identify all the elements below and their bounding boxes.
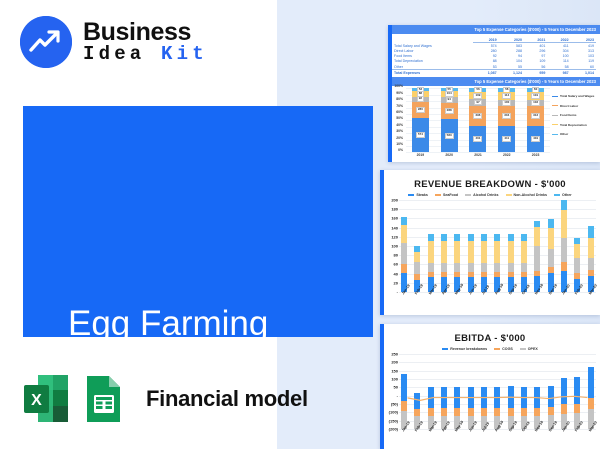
- row-value: 1,014: [571, 70, 596, 76]
- stacked-bar: [521, 200, 527, 292]
- bar-segment: [561, 378, 567, 404]
- bar-segment: [401, 264, 407, 273]
- stacked-bar: 60119103313419: [527, 88, 544, 152]
- legend-item: OPEX: [520, 347, 538, 351]
- stacked-bar: [428, 366, 434, 429]
- legend-label: Direct Labor: [560, 104, 578, 108]
- trending-up-circle-icon: [20, 16, 72, 68]
- y-tick: -: [397, 290, 398, 295]
- legend-label: Steaks: [416, 193, 428, 197]
- y-tick: 200: [391, 198, 398, 203]
- stacked-bar: [494, 366, 500, 429]
- legend-label: Total Salary and Wages: [560, 94, 594, 98]
- y-tick: 80%: [396, 97, 403, 101]
- bar-segment: [508, 263, 514, 273]
- y-tick: (100): [389, 410, 398, 415]
- bar-segment: [468, 263, 474, 273]
- bar-segment: [401, 401, 407, 411]
- svg-text:X: X: [31, 392, 42, 409]
- bar-segment: [401, 374, 407, 401]
- stacked-bar: [441, 366, 447, 429]
- bar-segment: [414, 262, 420, 274]
- revenue-plot: [399, 200, 596, 292]
- stacked-bar: [401, 200, 407, 292]
- bar-segment: [494, 263, 500, 273]
- bar-segment: [468, 387, 474, 408]
- bar-segment: [588, 258, 594, 271]
- y-tick: 20%: [396, 136, 403, 140]
- bar-segment: [494, 408, 500, 416]
- bar-segment: [574, 244, 580, 258]
- stacked-bar: [494, 200, 500, 292]
- bar-segment: [454, 387, 460, 408]
- bar-segment: 583: [441, 119, 458, 152]
- brand-wordmark: Business Idea Kit: [83, 19, 208, 64]
- bar-segment: [521, 408, 527, 416]
- ebitda-chart-body: 25020015010050-(50)(100)(150)(200) Jan-1…: [384, 354, 596, 449]
- bar-segment: [414, 393, 420, 410]
- ebitda-card[interactable]: EBITDA - $'000 Revenue breakdownsCOGSOPE…: [380, 324, 600, 449]
- y-tick: (150): [389, 418, 398, 423]
- file-format-label: Financial model: [146, 386, 308, 412]
- bar-segment: 401: [469, 126, 486, 153]
- bar-segment: [481, 387, 487, 408]
- bar-segment: [548, 249, 554, 267]
- bar-segment: [561, 404, 567, 414]
- bar-segment: [441, 387, 447, 408]
- bar-segment: [521, 234, 527, 241]
- bar-segment: [521, 263, 527, 273]
- stacked-bar: [588, 200, 594, 292]
- page-title: Egg Farming: [68, 306, 268, 341]
- y-tick: 200: [391, 360, 398, 365]
- legend-item: Total Salary and Wages: [552, 94, 598, 98]
- y-tick: 40%: [396, 123, 403, 127]
- y-tick: 20: [394, 280, 398, 285]
- google-sheets-icon: [82, 373, 130, 425]
- expense-chart-banner: Top 5 Expense Categories ($'000) - 5 Yea…: [388, 77, 600, 86]
- bar-segment: [481, 234, 487, 241]
- x-tick: 2022: [498, 153, 515, 157]
- legend-label: Total Depreciation: [560, 123, 587, 127]
- y-tick: 100: [391, 244, 398, 249]
- bar-segment: [574, 377, 580, 403]
- stacked-bar: [561, 362, 567, 429]
- stacked-bar: [441, 200, 447, 292]
- legend-item: Other: [554, 193, 572, 197]
- row-value: 1,087: [473, 70, 498, 76]
- y-tick: -: [397, 393, 398, 398]
- y-tick: 160: [391, 216, 398, 221]
- stacked-bar: [454, 366, 460, 429]
- stacked-bar: [414, 200, 420, 292]
- x-tick: 2023: [527, 153, 544, 157]
- hero-banner: Egg Farming: [23, 106, 373, 337]
- revenue-chart-body: 20018016014012010080604020- Jan-19Feb-19…: [384, 200, 596, 313]
- bar-segment: [534, 246, 540, 270]
- bar-segment: [441, 263, 447, 273]
- bar-segment: [401, 225, 407, 243]
- y-tick: 80: [394, 253, 398, 258]
- bar-segment: [454, 241, 460, 262]
- bar-segment: [548, 407, 554, 416]
- chart1-bars: 5388922805745510494288583561099729640158…: [406, 88, 550, 152]
- bar-segment: [494, 387, 500, 408]
- legend-item: Revenue breakdowns: [442, 347, 487, 351]
- ebitda-bars: [399, 354, 596, 429]
- stacked-bar: 538892280574: [412, 88, 429, 152]
- y-tick: 100%: [394, 84, 403, 88]
- stacked-bar: [548, 200, 554, 292]
- legend-item: Non-Alcohol Drinks: [506, 193, 548, 197]
- y-tick: 70%: [396, 104, 403, 108]
- bar-segment: 288: [441, 103, 458, 119]
- legend-item: Direct Labor: [552, 104, 598, 108]
- x-tick: 2021: [469, 153, 486, 157]
- y-tick: 180: [391, 207, 398, 212]
- bar-segment: 411: [498, 126, 515, 153]
- stacked-bar: [414, 368, 420, 429]
- legend-label: Food Items: [560, 113, 577, 117]
- bar-segment: [454, 234, 460, 241]
- bar-segment: [548, 228, 554, 249]
- stacked-bar: [468, 366, 474, 429]
- stacked-bar: [454, 200, 460, 292]
- bar-segment: [494, 241, 500, 262]
- legend-item: Other: [552, 132, 598, 136]
- y-tick: 30%: [396, 129, 403, 133]
- bar-segment: [508, 241, 514, 262]
- bar-segment: 114: [498, 92, 515, 99]
- stacked-bar: 5610997296401: [469, 88, 486, 152]
- bar-segment: 296: [469, 106, 486, 126]
- bar-segment: [534, 227, 540, 246]
- bar-segment: [574, 404, 580, 414]
- revenue-breakdown-card[interactable]: REVENUE BREAKDOWN - $'000 SteaksSeaFoodA…: [380, 170, 600, 315]
- bar-segment: [588, 238, 594, 257]
- revenue-chart-legend: SteaksSeaFoodAlcohol DrinksNon-Alcohol D…: [380, 193, 600, 197]
- bar-segment: [508, 386, 514, 407]
- bar-segment: 313: [527, 106, 544, 126]
- revenue-x-axis: Jan-19Feb-19Mar-19Apr-19May-19Jun-19Jul-…: [399, 293, 596, 313]
- stacked-bar: [588, 356, 594, 429]
- legend-label: Other: [560, 132, 568, 136]
- row-value: 959: [524, 70, 547, 76]
- stacked-bar: [521, 366, 527, 429]
- bar-segment: [481, 408, 487, 416]
- bar-segment: [428, 408, 434, 416]
- bar-segment: [441, 234, 447, 241]
- file-format-row: X Financial model: [22, 373, 308, 425]
- bar-segment: 574: [412, 118, 429, 152]
- y-tick: 60: [394, 262, 398, 267]
- expense-table: 20192020202120222023Total Salary and Wag…: [388, 34, 600, 77]
- stacked-bar: [508, 200, 514, 292]
- row-value: 1,124: [499, 70, 524, 76]
- stacked-bar: [534, 366, 540, 429]
- bar-segment: 109: [469, 92, 486, 99]
- bar-segment: [521, 241, 527, 262]
- bar-segment: 280: [412, 102, 429, 119]
- revenue-chart-title: REVENUE BREAKDOWN - $'000: [380, 179, 600, 190]
- legend-label: Non-Alcohol Drinks: [514, 193, 548, 197]
- chart1-y-axis: 100%90%80%70%60%50%40%30%20%10%0%: [388, 86, 404, 150]
- bar-segment: [508, 408, 514, 416]
- bar-segment: [561, 238, 567, 262]
- stacked-bar: [574, 200, 580, 292]
- brand-kit-text: Kit: [161, 43, 208, 65]
- stacked-bar: [468, 200, 474, 292]
- stacked-bar: [481, 366, 487, 429]
- expense-table-banner: Top 5 Expense Categories ($'000) - 5 Yea…: [388, 25, 600, 34]
- ebitda-plot: [399, 354, 596, 429]
- bar-segment: [494, 234, 500, 241]
- ebitda-chart-title: EBITDA - $'000: [380, 333, 600, 344]
- chart1-x-axis: 20192020202120222023: [406, 153, 550, 157]
- stacked-bar: [534, 200, 540, 292]
- bar-segment: [588, 367, 594, 398]
- stacked-bar: [428, 200, 434, 292]
- revenue-y-axis: 20018016014012010080604020-: [384, 200, 399, 292]
- bar-segment: 119: [527, 92, 544, 99]
- bar-segment: [414, 252, 420, 262]
- stacked-bar: [481, 200, 487, 292]
- bar-segment: [468, 408, 474, 416]
- bar-segment: [428, 234, 434, 241]
- stacked-bar: [561, 200, 567, 292]
- row-value: 987: [547, 70, 570, 76]
- bar-segment: [561, 200, 567, 210]
- legend-label: COGS: [502, 347, 513, 351]
- brand-line-idea-kit: Idea Kit: [83, 45, 208, 65]
- slide-canvas: Business Idea Kit Egg Farming X: [0, 0, 600, 449]
- ebitda-x-axis: Jan-19Feb-19Mar-19Apr-19May-19Jun-19Jul-…: [399, 430, 596, 449]
- bar-segment: [508, 234, 514, 241]
- y-tick: 10%: [396, 142, 403, 146]
- ebitda-y-axis: 25020015010050-(50)(100)(150)(200): [384, 354, 399, 429]
- y-tick: 250: [391, 352, 398, 357]
- stacked-bar: [548, 365, 554, 429]
- ebitda-chart-legend: Revenue breakdownsCOGSOPEX: [380, 347, 600, 351]
- bar-segment: [534, 387, 540, 408]
- chart1-plot: 5388922805745510494288583561099729640158…: [406, 88, 550, 152]
- legend-item: Alcohol Drinks: [465, 193, 498, 197]
- bar-segment: [588, 398, 594, 409]
- y-tick: 150: [391, 368, 398, 373]
- y-tick: 40: [394, 271, 398, 276]
- bar-segment: [534, 408, 540, 416]
- bar-segment: [521, 387, 527, 408]
- bar-segment: [428, 241, 434, 262]
- bar-segment: [441, 241, 447, 262]
- bar-segment: [481, 263, 487, 273]
- legend-item: Steaks: [408, 193, 428, 197]
- microsoft-excel-icon: X: [22, 373, 70, 425]
- bar-segment: [414, 409, 420, 416]
- bar-segment: [588, 226, 594, 238]
- x-tick: 2020: [441, 153, 458, 157]
- bar-segment: 419: [527, 126, 544, 152]
- bar-segment: [481, 241, 487, 262]
- bar-segment: [574, 258, 580, 273]
- legend-item: SeaFood: [435, 193, 458, 197]
- legend-item: Food Items: [552, 113, 598, 117]
- legend-label: OPEX: [528, 347, 538, 351]
- expense-stacked-chart: 100%90%80%70%60%50%40%30%20%10%0% 538892…: [388, 86, 600, 162]
- row-label: Total Expenses: [392, 70, 473, 76]
- revenue-bars: [399, 200, 596, 292]
- y-tick: 50: [394, 385, 398, 390]
- x-tick: 2019: [412, 153, 429, 157]
- y-tick: (200): [389, 427, 398, 432]
- legend-item: COGS: [494, 347, 513, 351]
- legend-label: Alcohol Drinks: [473, 193, 498, 197]
- bar-segment: [454, 263, 460, 273]
- bar-segment: [401, 217, 407, 225]
- stacked-bar: [574, 362, 580, 429]
- y-tick: 50%: [396, 116, 403, 120]
- bar-segment: [428, 387, 434, 408]
- expense-categories-card[interactable]: Top 5 Expense Categories ($'000) - 5 Yea…: [388, 25, 600, 162]
- stacked-bar: 5510494288583: [441, 88, 458, 152]
- y-tick: 100: [391, 377, 398, 382]
- brand-logo: Business Idea Kit: [20, 16, 208, 68]
- bar-segment: [454, 408, 460, 416]
- bar-segment: [401, 243, 407, 263]
- y-tick: 60%: [396, 110, 403, 114]
- stacked-bar: [401, 359, 407, 429]
- bar-segment: [548, 386, 554, 407]
- bar-segment: [468, 234, 474, 241]
- bar-segment: [441, 408, 447, 416]
- legend-label: SeaFood: [443, 193, 458, 197]
- bar-segment: [548, 219, 554, 228]
- legend-label: Revenue breakdowns: [450, 347, 487, 351]
- y-tick: 120: [391, 234, 398, 239]
- y-tick: 90%: [396, 91, 403, 95]
- brand-idea-text: Idea: [83, 43, 161, 65]
- bar-segment: [468, 241, 474, 262]
- y-tick: 140: [391, 225, 398, 230]
- table-row-total: Total Expenses1,0871,1249599871,014: [392, 70, 596, 76]
- legend-label: Other: [562, 193, 572, 197]
- stacked-bar: 58114100304411: [498, 88, 515, 152]
- table-row: Total Depreciation88104109114119: [392, 59, 596, 64]
- legend-item: Total Depreciation: [552, 123, 598, 127]
- chart1-legend: Total Salary and WagesDirect LaborFood I…: [552, 94, 598, 142]
- bar-segment: [561, 210, 567, 238]
- y-tick: 0%: [398, 148, 403, 152]
- bar-segment: [428, 263, 434, 273]
- stacked-bar: [508, 366, 514, 429]
- table-row: Total Salary and Wages574583401411419: [392, 43, 596, 49]
- bar-segment: [561, 262, 567, 271]
- bar-segment: 304: [498, 106, 515, 126]
- y-tick: (50): [391, 402, 398, 407]
